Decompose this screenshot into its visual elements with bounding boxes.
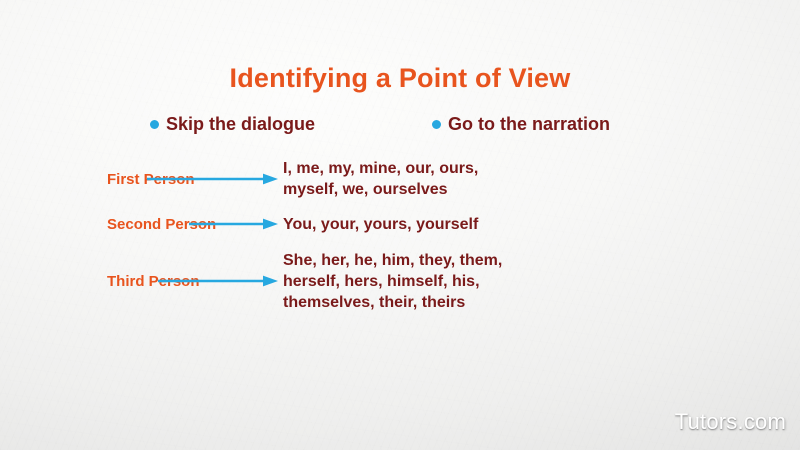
bullet-item-skip-dialogue: Skip the dialogue: [150, 114, 315, 135]
arrow-right-icon: [147, 173, 278, 185]
page-title: Identifying a Point of View: [0, 63, 800, 94]
bullet-dot-icon: [150, 120, 159, 129]
bullet-item-go-to-narration: Go to the narration: [432, 114, 610, 135]
slide-canvas: Identifying a Point of View Skip the dia…: [0, 0, 800, 450]
footer-logo: Tutors.com: [675, 409, 786, 435]
row-words-third-person: She, her, he, him, they, them, herself, …: [278, 250, 502, 313]
bullet-dot-icon: [432, 120, 441, 129]
bullet-label: Skip the dialogue: [166, 114, 315, 135]
table-row: First Person I, me, my, mine, our, ours,…: [0, 155, 800, 203]
bullet-row: Skip the dialogue Go to the narration: [150, 114, 670, 140]
table-row: Third Person She, her, he, him, they, th…: [0, 245, 800, 317]
arrow-right-icon: [189, 218, 278, 230]
row-label-cell: First Person: [0, 171, 278, 188]
row-label-cell: Second Person: [0, 216, 278, 233]
table-row: Second Person You, your, yours, yourself: [0, 203, 800, 245]
row-label-cell: Third Person: [0, 273, 278, 290]
arrow-right-icon: [158, 275, 278, 287]
point-of-view-table: First Person I, me, my, mine, our, ours,…: [0, 155, 800, 317]
row-words-first-person: I, me, my, mine, our, ours, myself, we, …: [278, 158, 478, 200]
row-words-second-person: You, your, yours, yourself: [278, 214, 478, 235]
bullet-label: Go to the narration: [448, 114, 610, 135]
